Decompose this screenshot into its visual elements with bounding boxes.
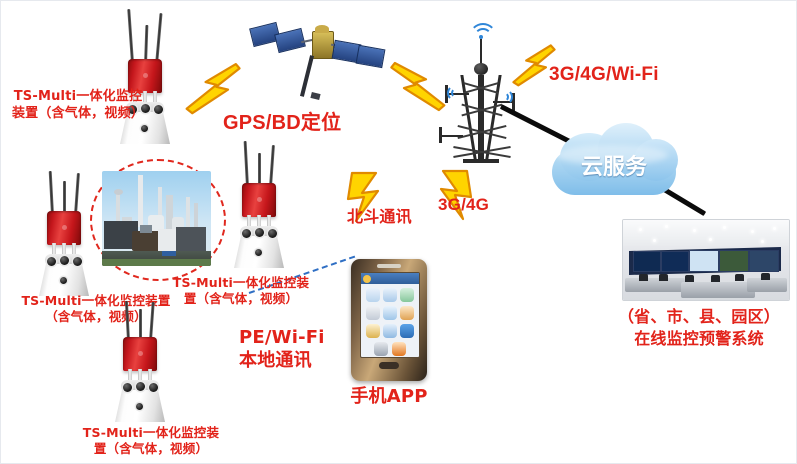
device-body	[123, 337, 157, 371]
device-body	[47, 211, 81, 245]
label-local-comm: PE/Wi-Fi 本地通讯	[239, 327, 349, 372]
pda-app-icon[interactable]	[400, 306, 414, 320]
device-antenna-b	[63, 181, 66, 215]
label-3g4g-wifi: 3G/4G/Wi-Fi	[549, 63, 709, 87]
bolt-satellite-to-tower	[379, 57, 447, 118]
pda-app-icon[interactable]	[400, 288, 414, 302]
device-antenna-c	[74, 173, 80, 215]
device-sensor-port-4	[60, 277, 67, 284]
device-sensor-port-2	[255, 228, 264, 237]
device-sensor-port-2	[136, 382, 145, 391]
pda-app-icon[interactable]	[392, 342, 406, 356]
device-sensor-port-2	[60, 256, 69, 265]
label-3g4g: 3G/4G	[438, 194, 518, 216]
tower-signal-left-icon	[447, 83, 465, 101]
tower-top-ball	[474, 63, 488, 75]
pda-app-icon[interactable]	[366, 288, 380, 302]
pda-app-icon[interactable]	[383, 324, 397, 338]
device-top-left[interactable]	[109, 9, 181, 149]
satellite-antenna-arm	[300, 55, 314, 97]
device-antenna-c	[149, 302, 155, 341]
device-body	[128, 59, 162, 93]
device-mid-left[interactable]	[27, 171, 99, 303]
device-bottom-left[interactable]	[103, 301, 175, 429]
device-sensor-port-3	[149, 383, 158, 392]
device-sensor-port-4	[255, 249, 262, 256]
label-gps-bd: GPS/BD定位	[223, 111, 363, 137]
pda-app-icon[interactable]	[366, 324, 380, 338]
device-sensor-port-1	[123, 383, 132, 392]
device-antenna-c	[269, 145, 275, 187]
device-sensor-port-1	[47, 257, 56, 266]
cloud-service-icon: 云服务	[546, 119, 682, 201]
refinery-photo	[102, 171, 211, 266]
pda-app-icon[interactable]	[366, 306, 380, 320]
device-bottom-left-label: TS-Multi一体化监控装 置（含气体，视频）	[61, 425, 241, 457]
tower-base	[463, 159, 499, 163]
pda-screen[interactable]	[360, 272, 420, 358]
pda-app-icon[interactable]	[383, 306, 397, 320]
tower-wifi-icon	[469, 23, 495, 41]
satellite-icon	[249, 15, 379, 101]
device-top-left-label: TS-Multi一体化监控 装置（含气体，视频）	[5, 89, 151, 122]
device-sensor-port-4	[141, 125, 148, 132]
device-antenna-a	[244, 141, 249, 187]
pda-home-button[interactable]	[379, 362, 399, 369]
tower-antenna-arm-low	[441, 135, 463, 137]
device-body	[242, 183, 276, 217]
device-antenna-b	[258, 153, 261, 187]
tower-mast	[480, 39, 482, 65]
control-room-photo	[622, 219, 790, 301]
device-center[interactable]	[223, 141, 295, 275]
device-antenna-c	[155, 13, 163, 65]
device-sensor-port-3	[268, 229, 277, 238]
control-room-label: （省、市、县、园区） 在线监控预警系统	[601, 306, 797, 349]
device-antenna-a	[127, 9, 134, 63]
device-antenna-a	[49, 171, 54, 215]
satellite-antenna-tip	[310, 92, 320, 100]
satellite-dish	[315, 25, 329, 33]
device-sensor-port-3	[154, 105, 163, 114]
device-sensor-port-1	[242, 229, 251, 238]
handheld-pda[interactable]	[351, 259, 427, 381]
pda-app-icon[interactable]	[374, 342, 388, 356]
tower-signal-right-icon	[497, 87, 515, 105]
tower-antenna-low	[439, 127, 442, 143]
pda-app-icon[interactable]	[383, 288, 397, 302]
pda-label: 手机APP	[331, 385, 447, 408]
device-sensor-port-3	[73, 257, 82, 266]
device-sensor-port-4	[136, 403, 143, 410]
device-center-label: TS-Multi一体化监控装 置（含气体，视频）	[153, 275, 329, 307]
pda-speaker	[377, 264, 401, 268]
device-antenna-a	[125, 301, 130, 341]
pda-app-icon[interactable]	[400, 324, 414, 338]
diagram-canvas: 云服务	[0, 0, 797, 464]
cloud-label: 云服务	[546, 149, 682, 181]
